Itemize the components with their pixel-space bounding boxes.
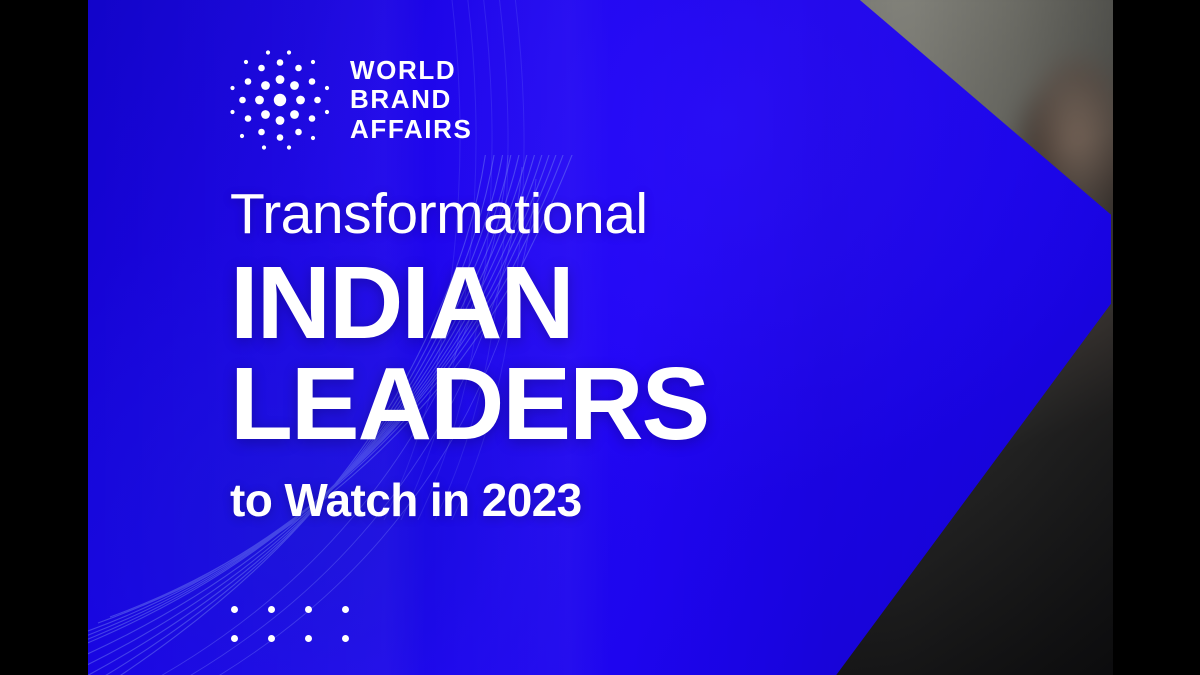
radial-dot-burst-icon	[228, 48, 332, 152]
logo-line-2: BRAND	[350, 85, 472, 114]
headline-eyebrow: Transformational	[230, 186, 708, 243]
grid-dot	[342, 606, 349, 613]
headline-block: Transformational INDIAN LEADERS to Watch…	[230, 186, 708, 523]
grid-dot	[231, 606, 238, 613]
grid-dot	[268, 606, 275, 613]
grid-dot	[342, 635, 349, 642]
content-layer: WORLD BRAND AFFAIRS Transformational IND…	[0, 0, 1200, 675]
letterbox-bar-left	[0, 0, 88, 675]
headline-line-indian: INDIAN	[230, 255, 708, 352]
grid-dot	[268, 635, 275, 642]
letterbox-bar-right	[1113, 0, 1200, 675]
headline-subline: to Watch in 2023	[230, 477, 708, 523]
logo-line-3: AFFAIRS	[350, 115, 472, 144]
brand-logo: WORLD BRAND AFFAIRS	[228, 48, 472, 152]
grid-dot	[305, 606, 312, 613]
cover-graphic: WORLD BRAND AFFAIRS Transformational IND…	[0, 0, 1200, 675]
decorative-dot-grid	[231, 606, 379, 664]
grid-dot	[231, 635, 238, 642]
brand-logo-wordmark: WORLD BRAND AFFAIRS	[350, 56, 472, 144]
headline-line-leaders: LEADERS	[230, 356, 708, 453]
logo-line-1: WORLD	[350, 56, 472, 85]
grid-dot	[305, 635, 312, 642]
